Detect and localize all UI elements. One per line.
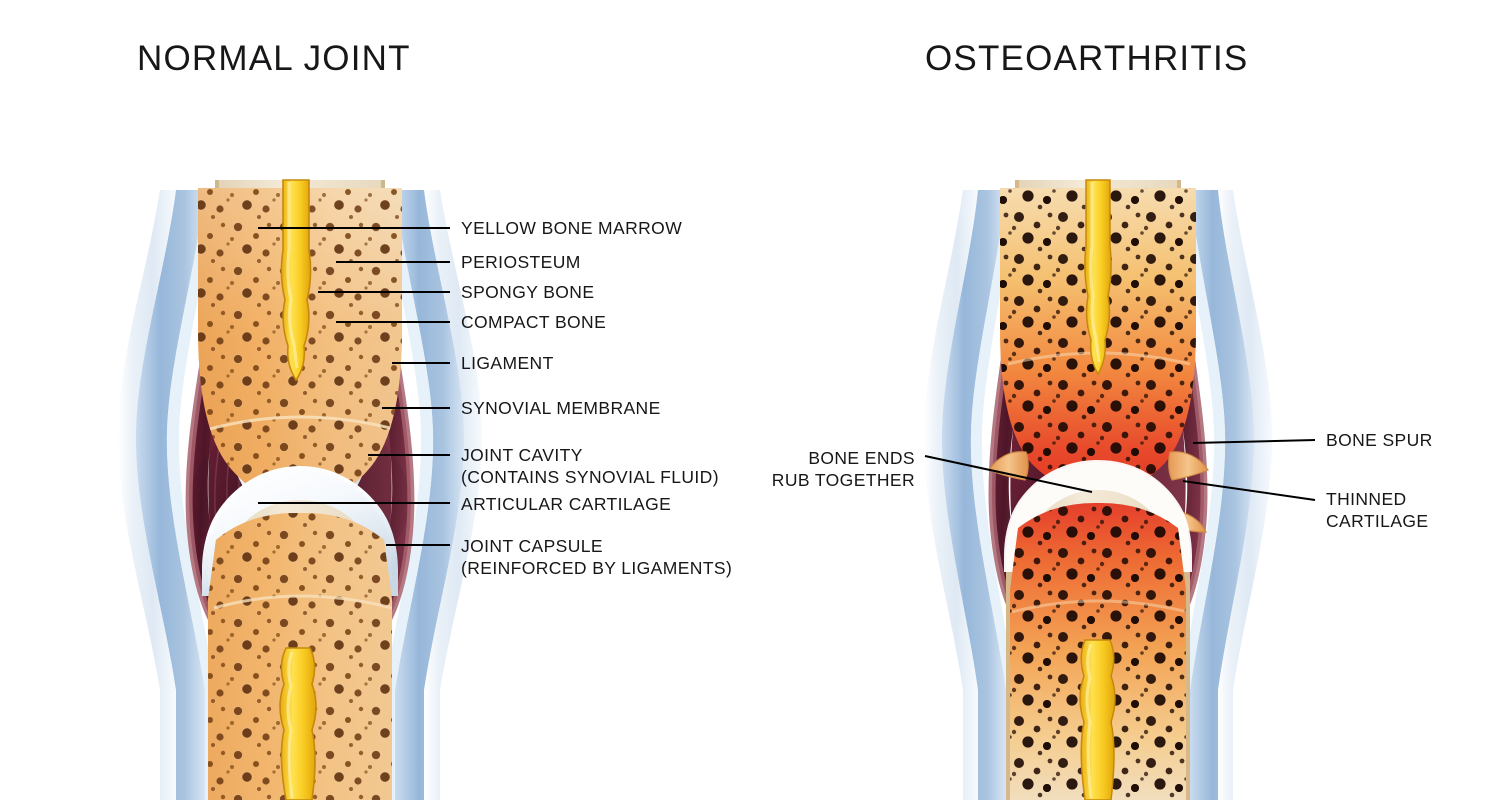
label-articular-cartilage: ARTICULAR CARTILAGE	[461, 493, 671, 515]
label-ligament: LIGAMENT	[461, 352, 554, 374]
label-synovial-membrane: SYNOVIAL MEMBRANE	[461, 397, 661, 419]
label-joint-capsule-sub: (REINFORCED BY LIGAMENTS)	[461, 557, 732, 579]
label-yellow-bone-marrow: YELLOW BONE MARROW	[461, 217, 682, 239]
label-bone-spur: BONE SPUR	[1326, 429, 1433, 451]
label-spongy-bone: SPONGY BONE	[461, 281, 594, 303]
joint-illustration	[0, 0, 1500, 800]
label-joint-cavity-sub: (CONTAINS SYNOVIAL FLUID)	[461, 466, 719, 488]
yellow-bone-marrow-lower	[280, 648, 316, 800]
page-title-normal-joint: NORMAL JOINT	[137, 39, 411, 79]
label-joint-cavity: JOINT CAVITY	[461, 444, 583, 466]
label-joint-capsule: JOINT CAPSULE	[461, 535, 603, 557]
label-bone-ends-rub-together-line2: RUB TOGETHER	[700, 469, 915, 491]
normal-joint-figure	[118, 180, 482, 800]
osteoarthritis-joint-figure	[924, 180, 1272, 800]
label-compact-bone: COMPACT BONE	[461, 311, 606, 333]
label-periosteum: PERIOSTEUM	[461, 251, 581, 273]
label-thinned-cartilage-line2: CARTILAGE	[1326, 510, 1428, 532]
label-thinned-cartilage-line1: THINNED	[1326, 488, 1407, 510]
label-bone-ends-rub-together-line1: BONE ENDS	[700, 447, 915, 469]
page-title-osteoarthritis: OSTEOARTHRITIS	[925, 39, 1248, 79]
diagram-canvas: NORMAL JOINT OSTEOARTHRITIS YELLOW BONE …	[0, 0, 1500, 800]
